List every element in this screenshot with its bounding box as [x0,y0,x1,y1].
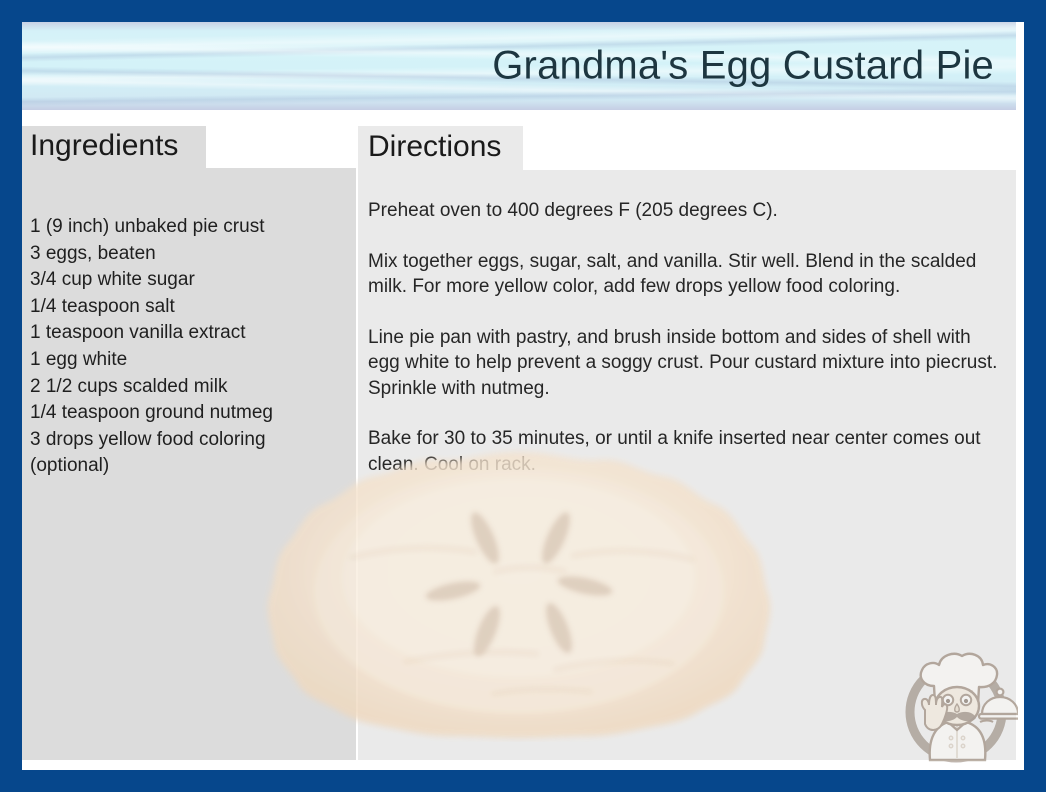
ingredients-panel: 1 (9 inch) unbaked pie crust3 eggs, beat… [22,168,356,760]
ingredient-item: 3/4 cup white sugar [30,267,350,294]
ingredients-heading-tab: Ingredients [22,126,206,168]
slide-canvas: Grandma's Egg Custard Pie Ingredients 1 … [22,22,1024,770]
directions-steps: Preheat oven to 400 degrees F (205 degre… [368,198,1004,502]
direction-step: Mix together eggs, sugar, salt, and vani… [368,249,1004,300]
direction-step: Preheat oven to 400 degrees F (205 degre… [368,198,1004,224]
ingredients-heading-label: Ingredients [30,129,178,163]
title-banner: Grandma's Egg Custard Pie [22,22,1016,110]
directions-heading-label: Directions [368,130,501,164]
recipe-slide: Grandma's Egg Custard Pie Ingredients 1 … [0,0,1046,792]
directions-heading-tab: Directions [358,126,523,170]
ingredients-list: 1 (9 inch) unbaked pie crust3 eggs, beat… [30,214,350,480]
chef-logo-icon [894,642,1018,766]
ingredient-item: (optional) [30,453,350,480]
page-title: Grandma's Egg Custard Pie [492,44,994,89]
ingredient-item: 1 (9 inch) unbaked pie crust [30,214,350,241]
ingredient-item: 1 teaspoon vanilla extract [30,320,350,347]
ingredient-item: 1/4 teaspoon ground nutmeg [30,400,350,427]
ingredient-item: 2 1/2 cups scalded milk [30,374,350,401]
ingredient-item: 1 egg white [30,347,350,374]
direction-step: Line pie pan with pastry, and brush insi… [368,325,1004,402]
ingredient-item: 1/4 teaspoon salt [30,294,350,321]
ingredient-item: 3 drops yellow food coloring [30,427,350,454]
direction-step: Bake for 30 to 35 minutes, or until a kn… [368,426,1004,477]
ingredient-item: 3 eggs, beaten [30,241,350,268]
